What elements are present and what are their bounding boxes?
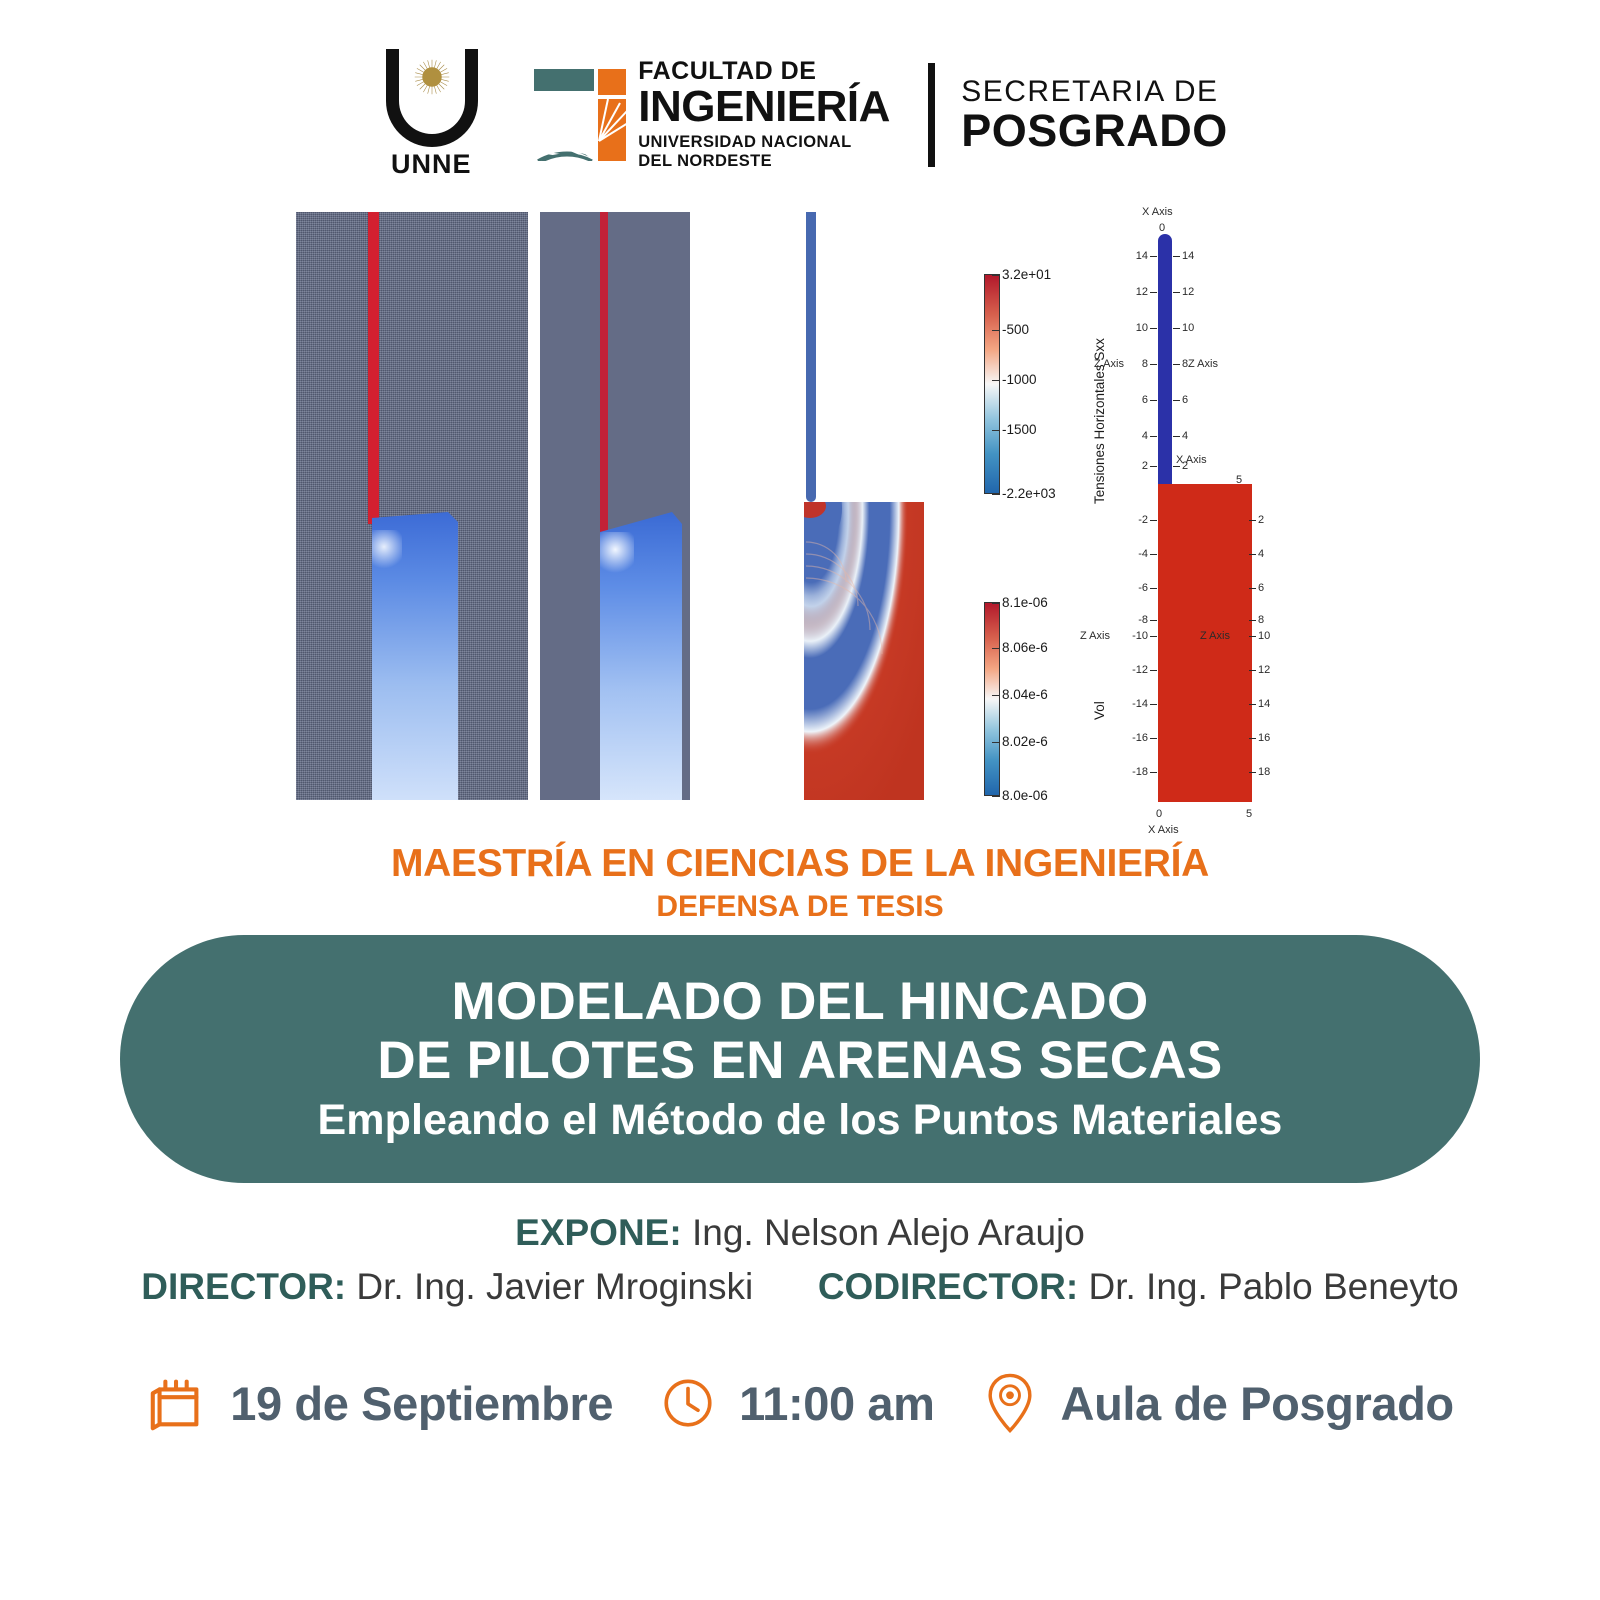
- stress-field-contour: [804, 212, 924, 800]
- codirector-name: Dr. Ing. Pablo Beneyto: [1088, 1266, 1458, 1307]
- p3-right-tick-2: 10: [1182, 322, 1194, 334]
- p3-top-value: 0: [1159, 222, 1165, 234]
- cb2-tick-3: 8.02e-6: [1002, 734, 1048, 749]
- secretaria-posgrado-logo: SECRETARIA DE POSGRADO: [928, 56, 1228, 174]
- p3-right-top-value: 5: [1236, 474, 1242, 486]
- cb2-tick-2: 8.04e-6: [1002, 687, 1048, 702]
- p3-z-label-right-top: Z Axis: [1188, 358, 1218, 370]
- p3-left-tick-7: -2: [1118, 514, 1148, 526]
- figure-strip: 3.2e+01 -500 -1000 -1500 -2.2e+03 Tensio…: [296, 212, 1306, 812]
- location-pin-icon: [981, 1372, 1039, 1434]
- p3-left-tick-9: -6: [1118, 582, 1148, 594]
- p3-left-tick-11: -10: [1118, 630, 1148, 642]
- p3-mid-x-axis-label: X Axis: [1176, 454, 1207, 466]
- secretaria-line2: POSGRADO: [961, 108, 1228, 155]
- p3-left-tick-1: 12: [1118, 286, 1148, 298]
- sand-pile-penetration-simulation: [540, 212, 690, 800]
- colorbar-gradient: [984, 274, 1000, 494]
- p3-left-tick-2: 10: [1118, 322, 1148, 334]
- p3-left-tick-14: -16: [1118, 732, 1148, 744]
- p3-bottom-axis-label: X Axis: [1148, 824, 1179, 836]
- pile-shaft-red-sim: [600, 212, 608, 532]
- p3-z-label-left-bottom: Z Axis: [1080, 630, 1110, 642]
- event-date-text: 19 de Septiembre: [230, 1376, 613, 1431]
- p3-left-tick-0: 14: [1118, 250, 1148, 262]
- cb1-tick-4: -2.2e+03: [1002, 486, 1056, 501]
- secretaria-line1: SECRETARIA DE: [961, 75, 1228, 109]
- cb1-tick-3: -1500: [1002, 422, 1037, 437]
- cb2-tick-1: 8.06e-6: [1002, 640, 1048, 655]
- expone-name: Ing. Nelson Alejo Araujo: [692, 1212, 1085, 1253]
- event-place-text: Aula de Posgrado: [1061, 1376, 1454, 1431]
- unne-acronym: UNNE: [372, 149, 490, 180]
- pile-3d-shaft: [1158, 234, 1172, 494]
- p3-right-tick-0: 14: [1182, 250, 1194, 262]
- p3-bottom-left-value: 0: [1156, 808, 1162, 820]
- facultad-line2: INGENIERÍA: [638, 85, 890, 129]
- pile-3d-plot: X Axis 0 Z Axis Z Axis Z Axis Z Axis X A…: [1096, 206, 1336, 826]
- pile-shaft-red: [368, 212, 379, 524]
- facultad-line1: FACULTAD DE: [638, 59, 890, 85]
- cb1-tick-1: -500: [1002, 322, 1029, 337]
- bulb-highlight: [372, 530, 402, 572]
- fan-mark-icon: [532, 67, 628, 163]
- p3-left-tick-3: 8: [1118, 358, 1148, 370]
- thesis-title-line2: DE PILOTES EN ARENAS SECAS: [377, 1031, 1222, 1090]
- p3-right-tick-10: 8: [1258, 614, 1264, 626]
- p3-right-tick-6: 2: [1182, 460, 1188, 472]
- p3-right-tick-1: 12: [1182, 286, 1194, 298]
- event-time-text: 11:00 am: [739, 1376, 934, 1431]
- p3-right-tick-5: 4: [1182, 430, 1188, 442]
- facultad-ingenieria-logo: FACULTAD DE INGENIERÍA UNIVERSIDAD NACIO…: [532, 55, 882, 175]
- p3-right-tick-11: 10: [1258, 630, 1270, 642]
- event-type-label: DEFENSA DE TESIS: [0, 890, 1600, 924]
- event-time: 11:00 am: [659, 1374, 934, 1432]
- facultad-line3: UNIVERSIDAD NACIONAL DEL NORDESTE: [638, 133, 890, 171]
- thesis-subtitle: Empleando el Método de los Puntos Materi…: [318, 1095, 1283, 1147]
- p3-left-tick-13: -14: [1118, 698, 1148, 710]
- p3-right-tick-15: 18: [1258, 766, 1270, 778]
- sand-pile-penetration-photo: [296, 212, 528, 800]
- p3-right-tick-4: 6: [1182, 394, 1188, 406]
- p3-left-tick-4: 6: [1118, 394, 1148, 406]
- p3-left-tick-12: -12: [1118, 664, 1148, 676]
- header-logos: UNNE: [0, 40, 1600, 190]
- event-date: 19 de Septiembre: [146, 1372, 613, 1434]
- event-info-bar: 19 de Septiembre 11:00 am Aula de Posgra…: [0, 1348, 1600, 1458]
- sun-icon: [414, 59, 450, 95]
- stress-contour-field: [804, 502, 924, 800]
- p3-z-label-right-bottom: Z Axis: [1200, 630, 1230, 642]
- codirector-label: CODIRECTOR:: [818, 1266, 1078, 1307]
- p3-right-tick-8: 4: [1258, 548, 1264, 560]
- p3-left-tick-15: -18: [1118, 766, 1148, 778]
- p3-right-tick-3: 8: [1182, 358, 1188, 370]
- p3-right-tick-12: 12: [1258, 664, 1270, 676]
- vertical-divider: [928, 63, 935, 167]
- event-place: Aula de Posgrado: [981, 1372, 1454, 1434]
- pile-shaft-blue: [806, 212, 816, 502]
- p3-left-tick-6: 2: [1118, 460, 1148, 472]
- cb1-tick-0: 3.2e+01: [1002, 267, 1051, 282]
- p3-right-tick-14: 16: [1258, 732, 1270, 744]
- unne-logo: UNNE: [372, 45, 490, 185]
- program-title: MAESTRÍA EN CIENCIAS DE LA INGENIERÍA: [0, 842, 1600, 886]
- thesis-title-line1: MODELADO DEL HINCADO: [452, 972, 1149, 1031]
- presenter-line: EXPONE: Ing. Nelson Alejo Araujo: [0, 1212, 1600, 1254]
- p3-right-tick-7: 2: [1258, 514, 1264, 526]
- cb2-tick-0: 8.1e-06: [1002, 595, 1048, 610]
- p3-left-tick-10: -8: [1118, 614, 1148, 626]
- p3-bottom-right-value: 5: [1246, 808, 1252, 820]
- thesis-title-pill: MODELADO DEL HINCADO DE PILOTES EN ARENA…: [120, 935, 1480, 1183]
- director-name: Dr. Ing. Javier Mroginski: [356, 1266, 753, 1307]
- fan-rays-icon: [598, 97, 628, 143]
- bulb-highlight-sim: [600, 532, 634, 576]
- cb1-tick-2: -1000: [1002, 372, 1037, 387]
- p3-left-tick-8: -4: [1118, 548, 1148, 560]
- p3-top-axis-label: X Axis: [1142, 206, 1173, 218]
- directors-line: DIRECTOR: Dr. Ing. Javier Mroginski CODI…: [0, 1266, 1600, 1308]
- calendar-icon: [146, 1372, 208, 1434]
- colorbar-gradient-2: [984, 602, 1000, 796]
- p3-right-tick-13: 14: [1258, 698, 1270, 710]
- clock-icon: [659, 1374, 717, 1432]
- p3-left-tick-5: 4: [1118, 430, 1148, 442]
- pile-3d-soil-block: [1158, 484, 1252, 802]
- p3-right-tick-9: 6: [1258, 582, 1264, 594]
- cb2-tick-4: 8.0e-06: [1002, 788, 1048, 803]
- expone-label: EXPONE:: [515, 1212, 682, 1253]
- director-label: DIRECTOR:: [141, 1266, 346, 1307]
